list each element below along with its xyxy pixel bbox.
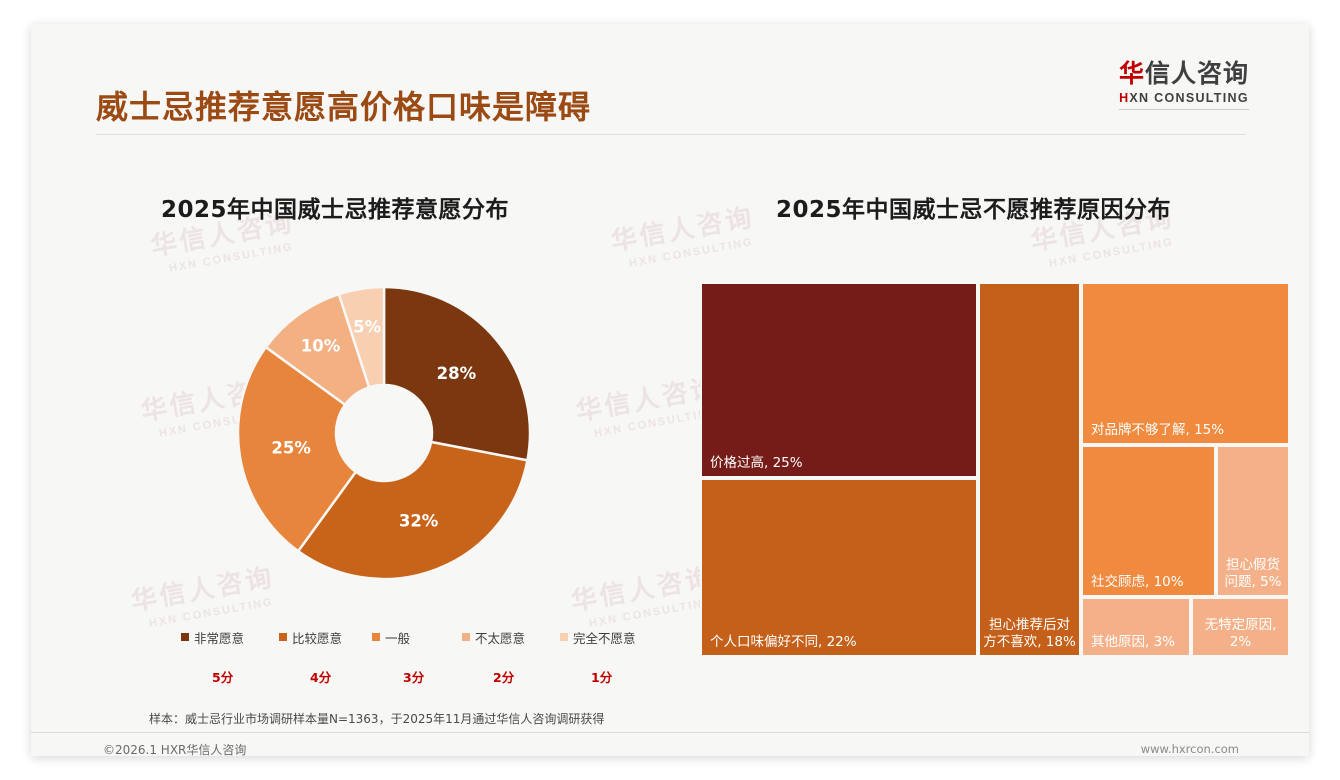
treemap-cell[interactable]: 价格过高, 25% [700,282,978,478]
logo-underline [1119,109,1249,110]
treemap-cell[interactable]: 担心假货问题, 5% [1216,445,1290,597]
donut-svg: 28%32%25%10%5% [203,271,565,596]
watermark-cn: 华信人咨询 [568,557,717,619]
footer-divider [31,732,1309,733]
treemap-cell[interactable]: 对品牌不够了解, 15% [1081,282,1290,445]
legend-label: 非常愿意 [194,628,244,647]
legend-score-label: 1分 [560,667,660,685]
legend-swatch-icon [279,633,287,641]
donut-slice-label: 32% [399,511,439,530]
watermark-en: HXN CONSULTING [148,595,279,630]
legend-swatch-icon [462,633,470,641]
watermark-cn: 华信人咨询 [608,197,757,259]
watermark: 华信人咨询 HXN CONSULTING [608,197,760,272]
legend-item[interactable]: 一般 [372,628,462,646]
legend-item[interactable]: 不太愿意 [462,628,560,646]
legend-score-label: 2分 [462,667,560,685]
donut-score-row: 5分4分3分2分1分 [181,667,661,685]
legend-label: 完全不愿意 [573,628,636,647]
header-divider [96,134,1246,135]
watermark-en: HXN CONSULTING [628,235,759,270]
donut-legend: 非常愿意比较愿意一般不太愿意完全不愿意 [181,628,661,646]
treemap-cell-label: 担心推荐后对方不喜欢, 18% [983,617,1076,651]
logo-english: HXN CONSULTING [1119,91,1249,105]
legend-label: 不太愿意 [475,628,525,647]
treemap-cell-label: 对品牌不够了解, 15% [1091,422,1283,439]
donut-slice-label: 10% [301,337,341,356]
legend-swatch-icon [560,633,568,641]
legend-item[interactable]: 非常愿意 [181,628,279,646]
legend-label: 一般 [385,628,410,647]
recommendation-willingness-donut-chart: 28%32%25%10%5% [203,271,565,596]
treemap-cell-label: 价格过高, 25% [710,455,971,472]
legend-item[interactable]: 比较愿意 [279,628,372,646]
treemap-cell[interactable]: 无特定原因, 2% [1191,597,1290,657]
page-title: 威士忌推荐意愿高价格口味是障碍 [96,82,591,128]
donut-slice-label: 28% [437,364,477,383]
unwilling-reasons-treemap-chart: 价格过高, 25%个人口味偏好不同, 22%担心推荐后对方不喜欢, 18%对品牌… [700,282,1290,657]
legend-swatch-icon [372,633,380,641]
logo-chinese: 华信人咨询 [1119,60,1249,88]
slide-header: 威士忌推荐意愿高价格口味是障碍 华信人咨询 HXN CONSULTING [31,24,1309,124]
treemap-cell[interactable]: 社交顾虑, 10% [1081,445,1216,597]
logo-cn-rest: 信人咨询 [1145,59,1249,88]
copyright-text: ©2026.1 HXR华信人咨询 [103,741,246,756]
treemap-cell[interactable]: 担心推荐后对方不喜欢, 18% [978,282,1081,657]
watermark-en: HXN CONSULTING [1048,235,1179,270]
legend-item[interactable]: 完全不愿意 [560,628,660,646]
treemap-cell[interactable]: 其他原因, 3% [1081,597,1191,657]
watermark: 华信人咨询 HXN CONSULTING [568,557,720,632]
treemap-cell-label: 无特定原因, 2% [1196,617,1285,651]
logo-hua-char: 华 [1119,59,1145,88]
treemap-cell-label: 个人口味偏好不同, 22% [710,634,971,651]
logo-en-rest: XN CONSULTING [1129,91,1248,105]
legend-label: 比较愿意 [292,628,342,647]
treemap-cell-label: 社交顾虑, 10% [1091,574,1209,591]
website-link[interactable]: www.hxrcon.com [1141,742,1239,756]
sample-note: 样本：威士忌行业市场调研样本量N=1363，于2025年11月通过华信人咨询调研… [149,710,604,727]
watermark-en: HXN CONSULTING [168,240,299,275]
right-chart-title: 2025年中国威士忌不愿推荐原因分布 [776,190,1171,224]
donut-slices [238,287,530,579]
legend-score-label: 4分 [279,667,372,685]
legend-score-label: 5分 [181,667,279,685]
donut-slice-label: 25% [271,439,311,458]
slide-canvas: 华信人咨询 HXN CONSULTING 华信人咨询 HXN CONSULTIN… [31,24,1309,756]
donut-slice-label: 5% [353,317,381,336]
treemap-cell[interactable]: 个人口味偏好不同, 22% [700,478,978,657]
logo-h-char: H [1119,91,1129,105]
company-logo: 华信人咨询 HXN CONSULTING [1119,60,1249,110]
treemap-cell-label: 担心假货问题, 5% [1221,557,1285,591]
left-chart-title: 2025年中国威士忌推荐意愿分布 [161,190,509,224]
legend-score-label: 3分 [372,667,462,685]
treemap-cell-label: 其他原因, 3% [1091,634,1184,651]
legend-swatch-icon [181,633,189,641]
